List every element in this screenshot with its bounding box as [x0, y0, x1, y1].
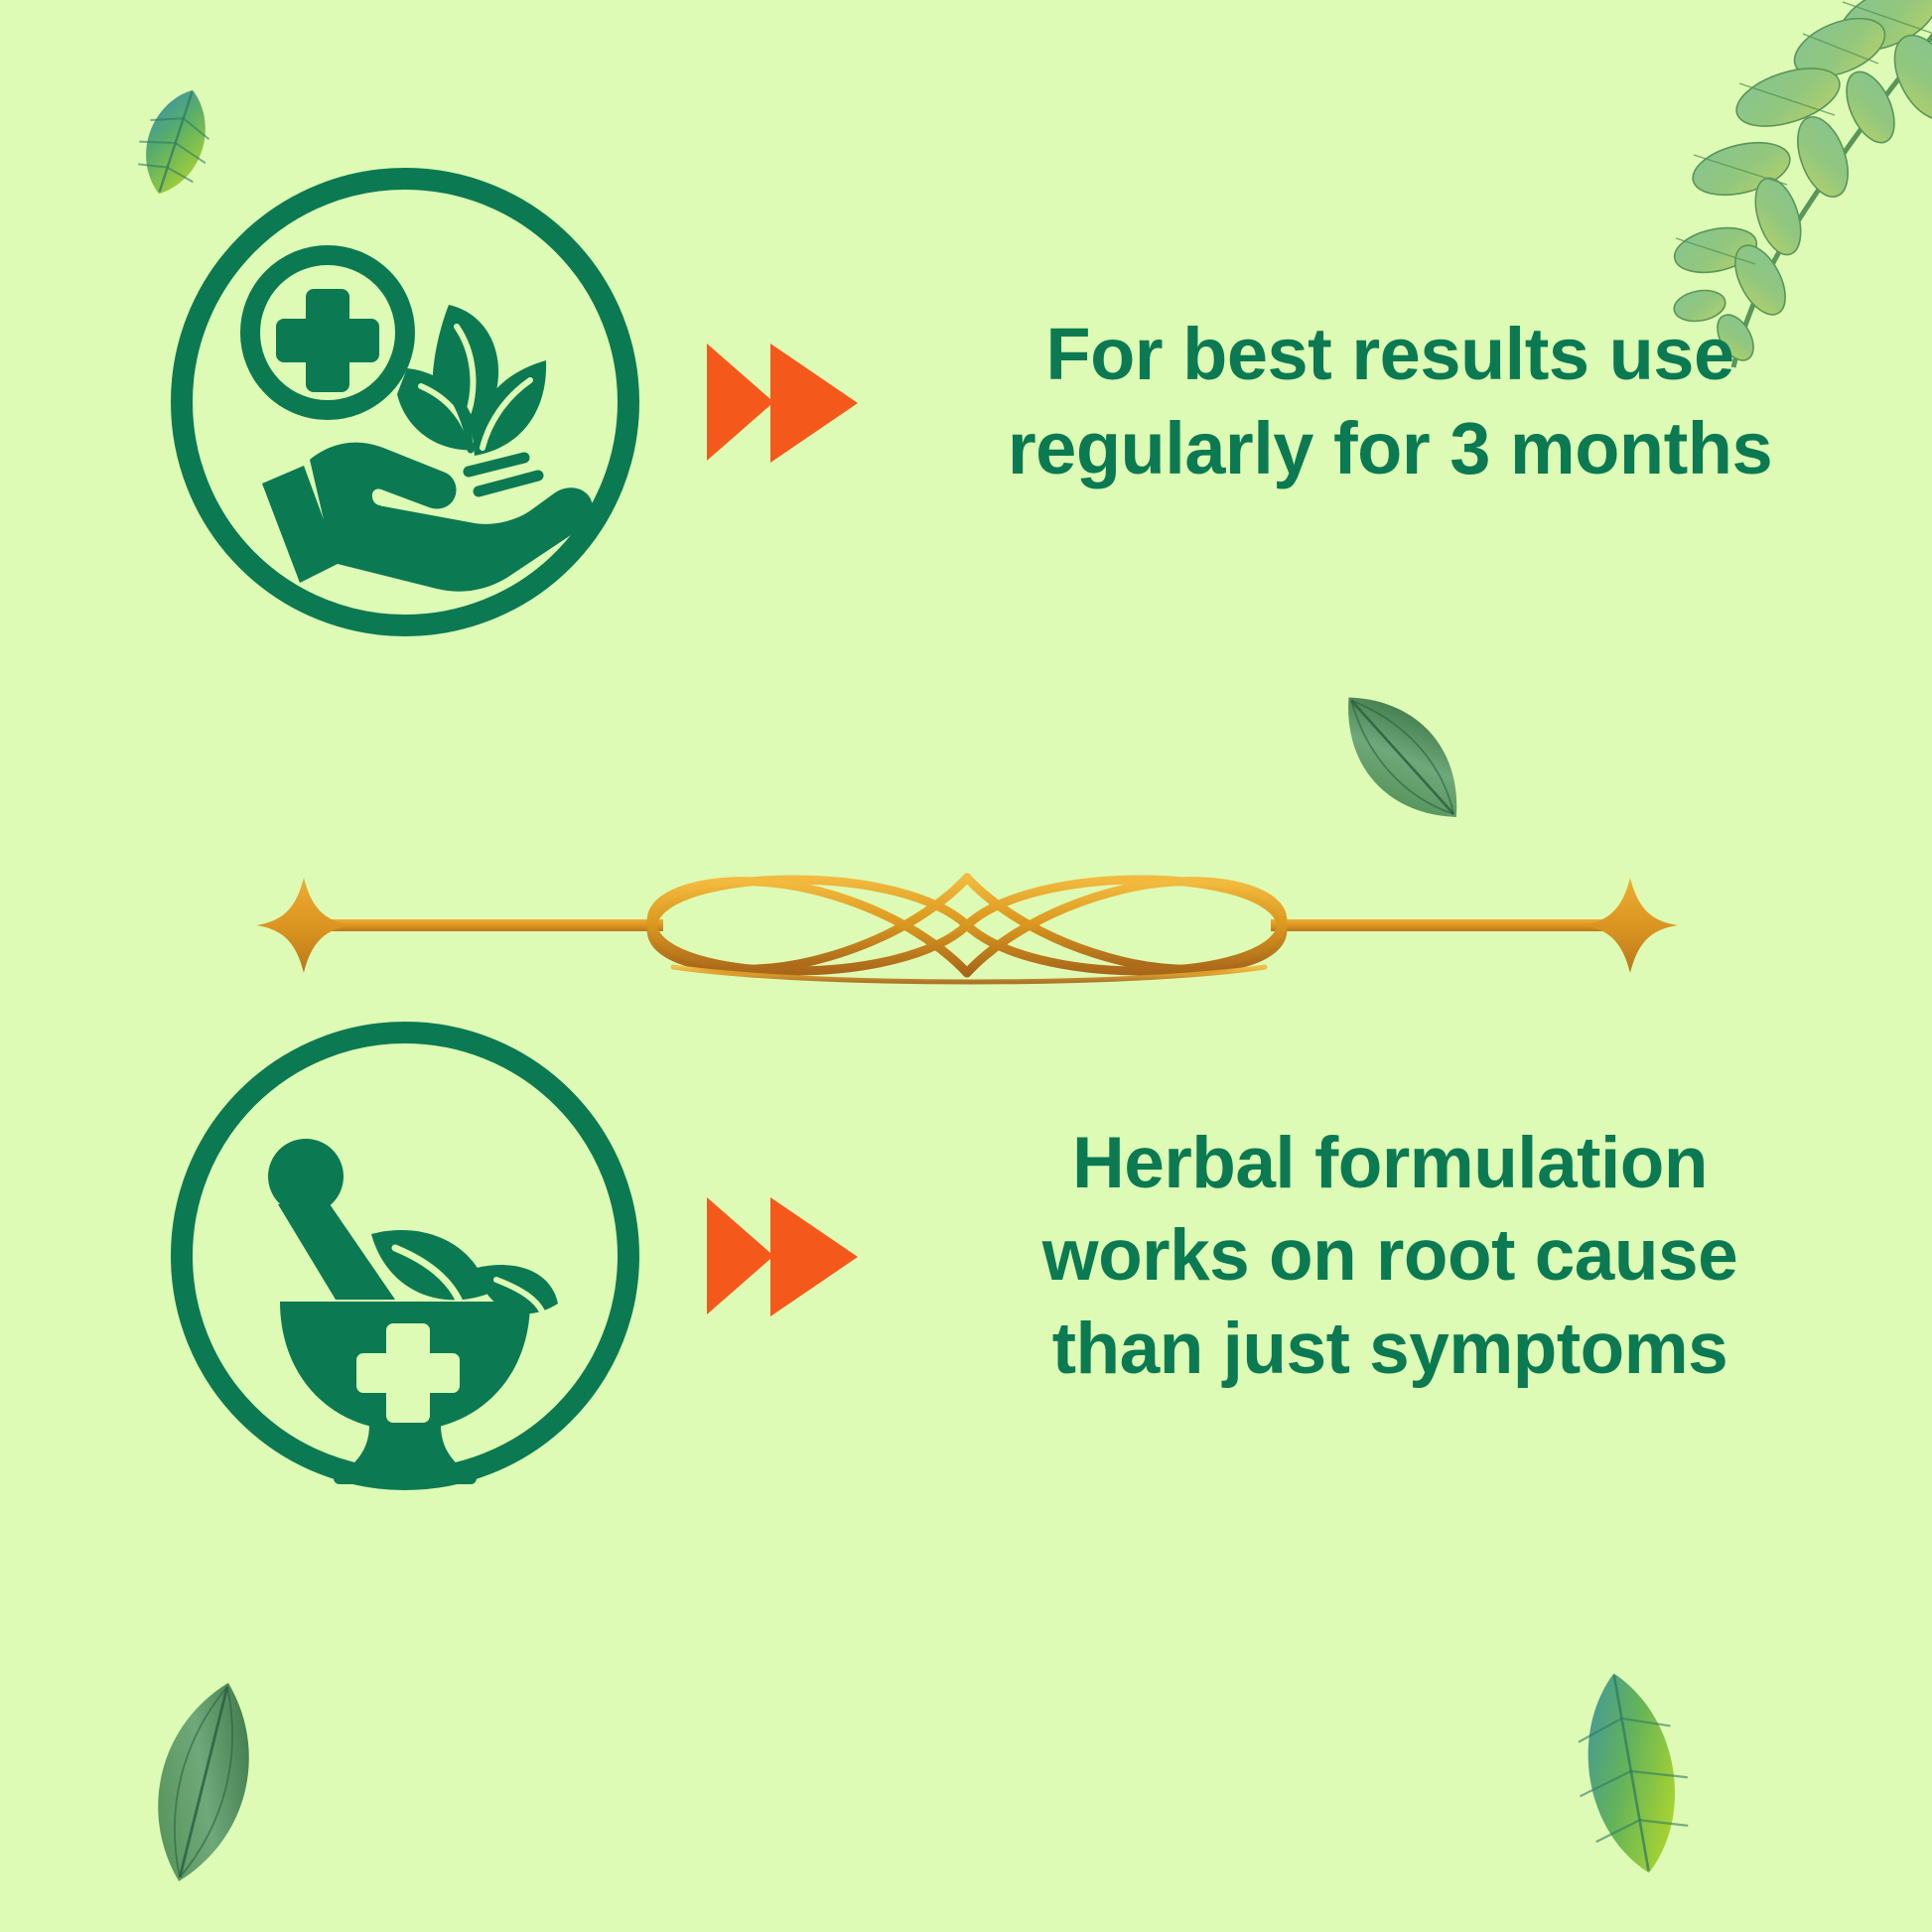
double-chevron-right-icon: [699, 1172, 868, 1340]
dark-green-leaf-icon: [1312, 667, 1491, 846]
benefit-row-bottom: Herbal formulation works on root cause t…: [0, 993, 1932, 1519]
dark-green-leaf-icon: [109, 1668, 298, 1896]
double-chevron-right-icon: [699, 318, 868, 486]
textured-leaf-icon: [1537, 1656, 1725, 1889]
gold-infinity-flourish-divider: [256, 856, 1678, 995]
hand-holding-plant-with-medical-cross-icon: [159, 156, 651, 648]
poster-canvas: For best results use regularly for 3 mon…: [0, 0, 1932, 1932]
mortar-and-pestle-with-leaves-icon: [159, 1010, 651, 1502]
benefit-headline-top: For best results use regularly for 3 mon…: [878, 308, 1932, 495]
benefit-headline-bottom: Herbal formulation works on root cause t…: [878, 1117, 1932, 1395]
benefit-row-top: For best results use regularly for 3 mon…: [0, 139, 1932, 665]
